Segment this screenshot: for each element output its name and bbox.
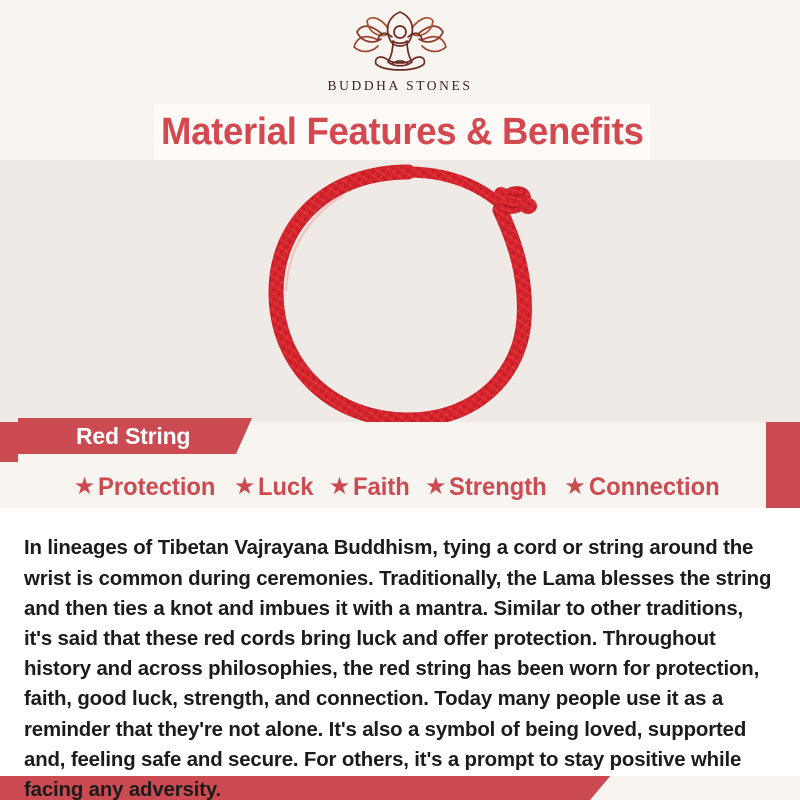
benefit-label: Luck bbox=[258, 473, 313, 502]
benefit-item-protection: ★ Protection bbox=[74, 473, 222, 502]
benefit-label: Connection bbox=[589, 473, 720, 502]
benefit-label: Strength bbox=[449, 473, 547, 502]
product-label-banner: Red String bbox=[18, 418, 252, 454]
brand-name: BUDDHA STONES bbox=[328, 78, 473, 94]
title-banner: Material Features & Benefits bbox=[154, 104, 650, 160]
benefit-item-luck: ★ Luck bbox=[234, 473, 317, 502]
red-string-bracelet-image bbox=[232, 160, 582, 422]
product-label: Red String bbox=[76, 423, 190, 450]
infographic-poster: BUDDHA STONES Material Features & Benefi… bbox=[0, 0, 800, 800]
benefit-item-connection: ★ Connection bbox=[564, 473, 726, 502]
brand-logo: BUDDHA STONES bbox=[0, 10, 800, 94]
star-icon: ★ bbox=[564, 475, 586, 499]
benefit-item-faith: ★ Faith bbox=[329, 473, 413, 502]
description-panel: In lineages of Tibetan Vajrayana Buddhis… bbox=[0, 508, 800, 776]
benefit-item-strength: ★ Strength bbox=[425, 473, 552, 502]
brand-header: BUDDHA STONES bbox=[0, 0, 800, 106]
description-text: In lineages of Tibetan Vajrayana Buddhis… bbox=[24, 533, 776, 800]
star-icon: ★ bbox=[74, 475, 96, 499]
star-icon: ★ bbox=[329, 475, 351, 499]
product-image-area bbox=[0, 160, 800, 422]
page-title: Material Features & Benefits bbox=[161, 111, 644, 154]
lotus-meditation-icon bbox=[348, 10, 452, 76]
star-icon: ★ bbox=[234, 475, 256, 499]
benefit-label: Faith bbox=[353, 473, 410, 502]
star-icon: ★ bbox=[425, 475, 447, 499]
benefit-label: Protection bbox=[98, 473, 215, 502]
benefits-row: ★ Protection ★ Luck ★ Faith ★ Strength ★… bbox=[0, 466, 800, 508]
